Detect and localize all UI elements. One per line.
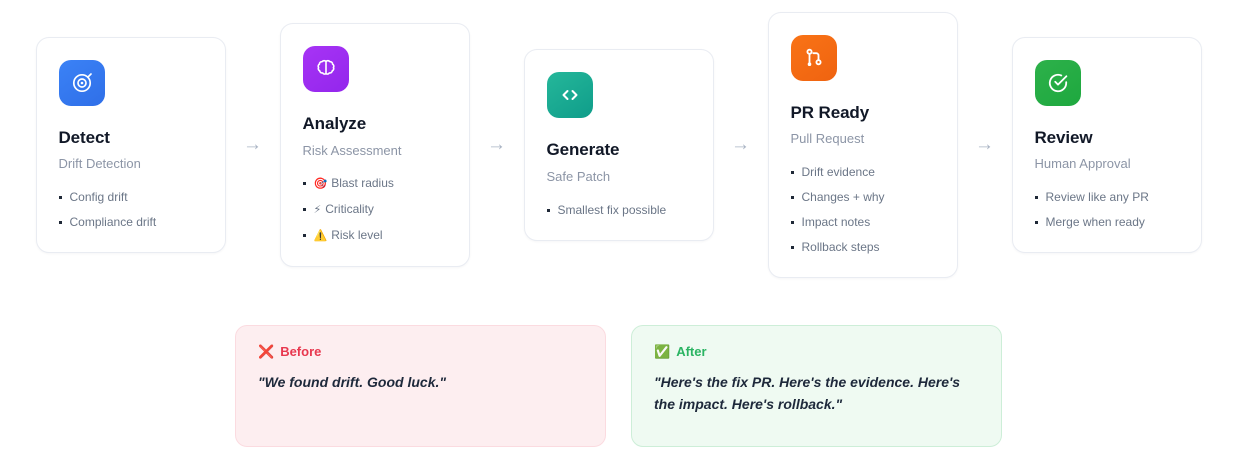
list-item: Changes + why [791, 190, 935, 205]
step-card-detect[interactable]: DetectDrift DetectionConfig driftComplia… [36, 37, 226, 253]
list-item: Rollback steps [791, 240, 935, 255]
before-card: ❌ Before "We found drift. Good luck." [235, 325, 606, 447]
step-title-pr-ready: PR Ready [791, 103, 935, 123]
list-item-label: Changes + why [802, 190, 885, 204]
cross-mark-icon: ❌ [258, 345, 274, 358]
list-item-label: Config drift [70, 190, 128, 204]
arrow-right-icon: → [243, 134, 262, 156]
radar-target-icon [59, 60, 105, 106]
arrow-right-icon: → [731, 134, 750, 156]
step-card-pr-ready[interactable]: PR ReadyPull RequestDrift evidenceChange… [768, 12, 958, 278]
list-item-label: Risk level [331, 228, 382, 242]
list-item: Impact notes [791, 215, 935, 230]
step-subtitle-pr-ready: Pull Request [791, 131, 935, 147]
step-card-analyze[interactable]: AnalyzeRisk Assessment🎯Blast radius⚡Crit… [280, 23, 470, 266]
step-subtitle-review: Human Approval [1035, 156, 1179, 172]
git-pull-request-icon [791, 35, 837, 81]
code-brackets-icon [547, 72, 593, 118]
check-mark-box-icon: ✅ [654, 345, 670, 358]
list-item: 🎯Blast radius [303, 176, 447, 192]
step-list-pr-ready: Drift evidenceChanges + whyImpact notesR… [791, 165, 935, 255]
after-label-text: After [676, 345, 706, 358]
arrow-right-icon: → [975, 134, 994, 156]
list-item-emoji-icon: 🎯 [314, 178, 328, 190]
list-item-label: Review like any PR [1046, 190, 1149, 204]
list-item: Smallest fix possible [547, 203, 691, 218]
step-title-review: Review [1035, 128, 1179, 148]
pipeline-flow: DetectDrift DetectionConfig driftComplia… [0, 0, 1237, 290]
step-title-analyze: Analyze [303, 114, 447, 134]
step-title-generate: Generate [547, 140, 691, 160]
list-item-label: Criticality [325, 202, 374, 216]
list-item-label: Impact notes [802, 215, 871, 229]
step-subtitle-generate: Safe Patch [547, 169, 691, 185]
step-list-analyze: 🎯Blast radius⚡Criticality⚠️Risk level [303, 176, 447, 243]
list-item: Drift evidence [791, 165, 935, 180]
before-after-comparison: ❌ Before "We found drift. Good luck." ✅ … [0, 325, 1237, 447]
after-card: ✅ After "Here's the fix PR. Here's the e… [631, 325, 1002, 447]
step-card-review[interactable]: ReviewHuman ApprovalReview like any PRMe… [1012, 37, 1202, 253]
list-item-label: Smallest fix possible [558, 203, 667, 217]
list-item: ⚡Criticality [303, 202, 447, 218]
flow-arrow-3: → [714, 134, 768, 156]
list-item-label: Compliance drift [70, 215, 157, 229]
flow-arrow-1: → [226, 134, 280, 156]
arrow-right-icon: → [487, 134, 506, 156]
list-item-label: Drift evidence [802, 165, 875, 179]
list-item: Review like any PR [1035, 190, 1179, 205]
flow-arrow-4: → [958, 134, 1012, 156]
list-item-emoji-icon: ⚡ [314, 204, 322, 216]
list-item-label: Merge when ready [1046, 215, 1145, 229]
step-list-generate: Smallest fix possible [547, 203, 691, 218]
list-item-label: Blast radius [331, 176, 394, 190]
step-list-review: Review like any PRMerge when ready [1035, 190, 1179, 230]
list-item-label: Rollback steps [802, 240, 880, 254]
before-label-row: ❌ Before [258, 345, 583, 358]
circle-check-icon [1035, 60, 1081, 106]
before-label-text: Before [280, 345, 321, 358]
flow-arrow-2: → [470, 134, 524, 156]
step-subtitle-detect: Drift Detection [59, 156, 203, 172]
list-item: Config drift [59, 190, 203, 205]
step-title-detect: Detect [59, 128, 203, 148]
list-item: ⚠️Risk level [303, 228, 447, 244]
step-card-generate[interactable]: GenerateSafe PatchSmallest fix possible [524, 49, 714, 240]
step-list-detect: Config driftCompliance drift [59, 190, 203, 230]
brain-icon [303, 46, 349, 92]
list-item-emoji-icon: ⚠️ [314, 230, 328, 242]
list-item: Compliance drift [59, 215, 203, 230]
step-subtitle-analyze: Risk Assessment [303, 143, 447, 159]
after-label-row: ✅ After [654, 345, 979, 358]
list-item: Merge when ready [1035, 215, 1179, 230]
after-quote: "Here's the fix PR. Here's the evidence.… [654, 372, 979, 415]
before-quote: "We found drift. Good luck." [258, 372, 583, 394]
